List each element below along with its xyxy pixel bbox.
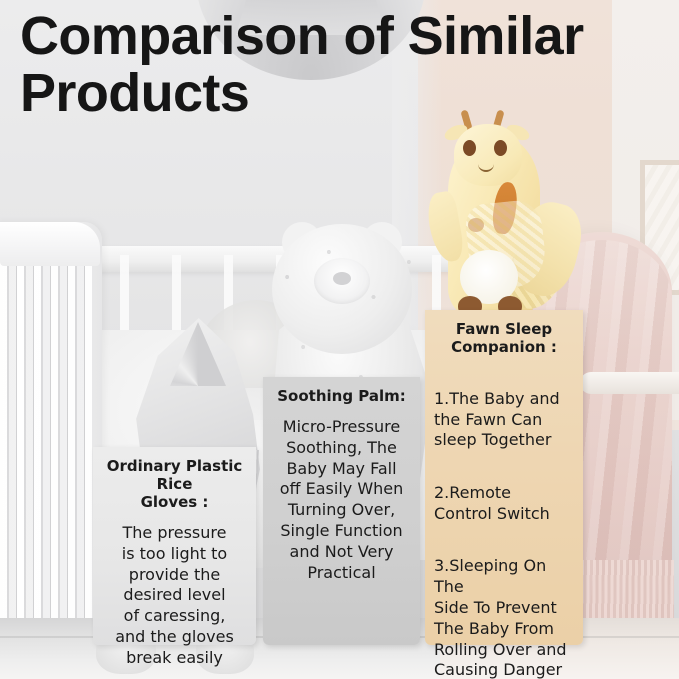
card-title-fawn-sleep-companion: Fawn Sleep Companion :: [434, 320, 574, 356]
comparison-card-ordinary-plastic-rice-gloves: Ordinary Plastic Rice Gloves : The press…: [93, 447, 256, 645]
card-body-soothing-palm: Micro-Pressure Soothing, The Baby May Fa…: [272, 417, 411, 583]
crib-post-cap: [0, 222, 100, 266]
card-feature-item: 1.The Baby and the Fawn Can sleep Togeth…: [434, 389, 574, 451]
card-title-ordinary-plastic-rice-gloves: Ordinary Plastic Rice Gloves :: [102, 457, 247, 511]
fawn-eye-left: [463, 140, 476, 156]
fawn-sleep-companion-plush: [432, 110, 592, 322]
comparison-card-fawn-sleep-companion: Fawn Sleep Companion : 1.The Baby and th…: [425, 310, 583, 645]
card-feature-item: 2.Remote Control Switch: [434, 483, 574, 525]
card-feature-item: 3.Sleeping On The Side To Prevent The Ba…: [434, 556, 574, 679]
page-title: Comparison of Similar Products: [20, 8, 666, 122]
fawn-head: [454, 124, 522, 186]
card-body-fawn-sleep-companion: 1.The Baby and the Fawn Can sleep Togeth…: [434, 368, 574, 679]
card-title-soothing-palm: Soothing Palm:: [272, 387, 411, 405]
product-comparison-image: Comparison of Similar Products Ordinary …: [0, 0, 679, 679]
card-body-ordinary-plastic-rice-gloves: The pressure is too light to provide the…: [102, 523, 247, 669]
side-table: [580, 372, 679, 394]
crib-left-slats: [0, 262, 92, 632]
comparison-card-soothing-palm: Soothing Palm: Micro-Pressure Soothing, …: [263, 377, 420, 645]
fawn-eye-right: [494, 140, 507, 156]
